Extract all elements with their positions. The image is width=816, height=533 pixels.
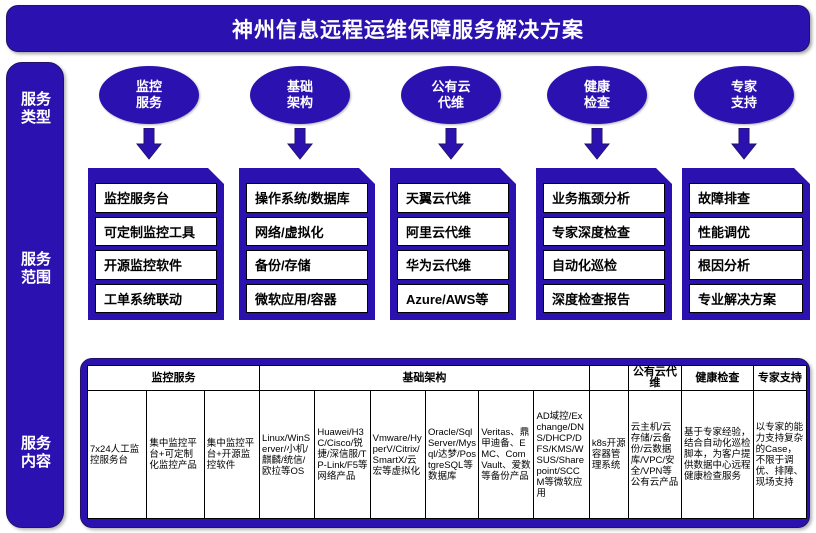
down-arrow-icon [584, 128, 610, 160]
category-ellipse-public-cloud[interactable]: 公有云代维 [401, 66, 501, 124]
scope-item[interactable]: 阿里云代维 [397, 217, 509, 247]
scope-item[interactable]: 备份/存储 [246, 250, 368, 280]
scope-box-expert-support: 故障排查 性能调优 根因分析 专业解决方案 [682, 168, 810, 320]
scope-item[interactable]: 可定制监控工具 [95, 217, 217, 247]
scope-item[interactable]: 业务瓶颈分析 [543, 183, 665, 213]
scope-item[interactable]: 故障排查 [689, 183, 803, 213]
scope-box-health-check: 业务瓶颈分析 专家深度检查 自动化巡检 深度检查报告 [536, 168, 672, 320]
category-ellipse-expert-support-label: 专家支持 [731, 79, 757, 111]
scope-box-infrastructure: 操作系统/数据库 网络/虚拟化 备份/存储 微软应用/容器 [239, 168, 375, 320]
down-arrow-icon [438, 128, 464, 160]
service-content-table: 监控服务 基础架构 公有云代维 健康检查 专家支持 7x24人工监控服务台 集中… [87, 365, 807, 519]
table-cell: Vmware/HyperV/Citrix/SmartX/云宏等虚拟化 [370, 391, 425, 519]
table-cell: Huawei/H3C/Cisco/锐捷/深信服/TP-Link/F5等网络产品 [315, 391, 370, 519]
scope-item[interactable]: 工单系统联动 [95, 284, 217, 314]
sidebar-item-service-content-line2: 内容 [7, 453, 65, 471]
category-ellipse-public-cloud-label: 公有云代维 [431, 79, 470, 111]
diagram-canvas: 神州信息远程运维保障服务解决方案 服务 类型 服务 范围 服务 内容 监控服务 … [0, 0, 816, 533]
down-arrow-icon [136, 128, 162, 160]
scope-item[interactable]: 根因分析 [689, 250, 803, 280]
table-cell: 以专家的能力支持复杂的Case，不限于调优、排障、现场支持 [753, 391, 806, 519]
scope-item[interactable]: 开源监控软件 [95, 250, 217, 280]
scope-item[interactable]: 华为云代维 [397, 250, 509, 280]
sidebar-item-service-type-line1: 服务 [7, 91, 65, 109]
service-content-panel: 监控服务 基础架构 公有云代维 健康检查 专家支持 7x24人工监控服务台 集中… [80, 358, 810, 528]
page-title-banner: 神州信息远程运维保障服务解决方案 [6, 5, 810, 52]
scope-item[interactable]: 监控服务台 [95, 183, 217, 213]
table-row: 7x24人工监控服务台 集中监控平台+可定制化监控产品 集中监控平台+开源监控软… [88, 391, 807, 519]
category-ellipse-infrastructure[interactable]: 基础架构 [250, 66, 350, 124]
table-cell: 云主机/云存储/云备份/云数据库/VPC/安全/VPN等公有云产品 [628, 391, 681, 519]
scope-box-monitoring: 监控服务台 可定制监控工具 开源监控软件 工单系统联动 [88, 168, 224, 320]
row-label-sidebar: 服务 类型 服务 范围 服务 内容 [6, 62, 64, 528]
scope-item[interactable]: 操作系统/数据库 [246, 183, 368, 213]
table-header-public-cloud: 公有云代维 [628, 366, 681, 391]
sidebar-item-service-content: 服务 内容 [7, 435, 65, 471]
category-ellipse-monitoring[interactable]: 监控服务 [99, 66, 199, 124]
table-header-health-check: 健康检查 [682, 366, 754, 391]
scope-box-public-cloud: 天翼云代维 阿里云代维 华为云代维 Azure/AWS等 [390, 168, 516, 320]
table-header-row: 监控服务 基础架构 公有云代维 健康检查 专家支持 [88, 366, 807, 391]
category-ellipse-health-check-label: 健康检查 [584, 79, 610, 111]
table-cell: 基于专家经验，结合自动化巡检脚本，为客户提供数据中心远程健康检查服务 [682, 391, 754, 519]
sidebar-item-service-scope-line2: 范围 [7, 269, 65, 287]
table-cell: Veritas、鼎甲迪备、EMC、ComVault、爱数等备份产品 [479, 391, 534, 519]
scope-item[interactable]: 微软应用/容器 [246, 284, 368, 314]
sidebar-item-service-type: 服务 类型 [7, 91, 65, 127]
scope-item[interactable]: 专业解决方案 [689, 284, 803, 314]
category-ellipse-infrastructure-label: 基础架构 [287, 79, 313, 111]
sidebar-item-service-content-line1: 服务 [7, 435, 65, 453]
scope-item[interactable]: 性能调优 [689, 217, 803, 247]
scope-item[interactable]: 专家深度检查 [543, 217, 665, 247]
table-cell: AD域控/Exchange/DNS/DHCP/DFS/KMS/WSUS/Shar… [534, 391, 589, 519]
sidebar-item-service-type-line2: 类型 [7, 109, 65, 127]
page-title: 神州信息远程运维保障服务解决方案 [232, 14, 584, 44]
table-header-expert-support: 专家支持 [753, 366, 806, 391]
scope-item[interactable]: 网络/虚拟化 [246, 217, 368, 247]
table-header-infrastructure: 基础架构 [260, 366, 590, 391]
sidebar-item-service-scope: 服务 范围 [7, 251, 65, 287]
sidebar-item-service-scope-line1: 服务 [7, 251, 65, 269]
table-cell: Oracle/SqlServer/Mysql/达梦/PostgreSQL等数据库 [425, 391, 478, 519]
table-header-infrastructure-spacer [589, 366, 628, 391]
scope-item[interactable]: Azure/AWS等 [397, 284, 509, 314]
table-header-monitoring: 监控服务 [88, 366, 260, 391]
down-arrow-icon [731, 128, 757, 160]
table-cell: 7x24人工监控服务台 [88, 391, 147, 519]
scope-item[interactable]: 自动化巡检 [543, 250, 665, 280]
scope-item[interactable]: 深度检查报告 [543, 284, 665, 314]
table-cell: k8s开源容器管理系统 [589, 391, 628, 519]
category-ellipse-expert-support[interactable]: 专家支持 [694, 66, 794, 124]
table-cell: Linux/WinServer/小机/麒麟/统信/欧拉等OS [260, 391, 315, 519]
category-ellipse-health-check[interactable]: 健康检查 [547, 66, 647, 124]
scope-item[interactable]: 天翼云代维 [397, 183, 509, 213]
table-cell: 集中监控平台+可定制化监控产品 [147, 391, 204, 519]
down-arrow-icon [287, 128, 313, 160]
category-ellipse-monitoring-label: 监控服务 [136, 79, 162, 111]
table-cell: 集中监控平台+开源监控软件 [204, 391, 259, 519]
